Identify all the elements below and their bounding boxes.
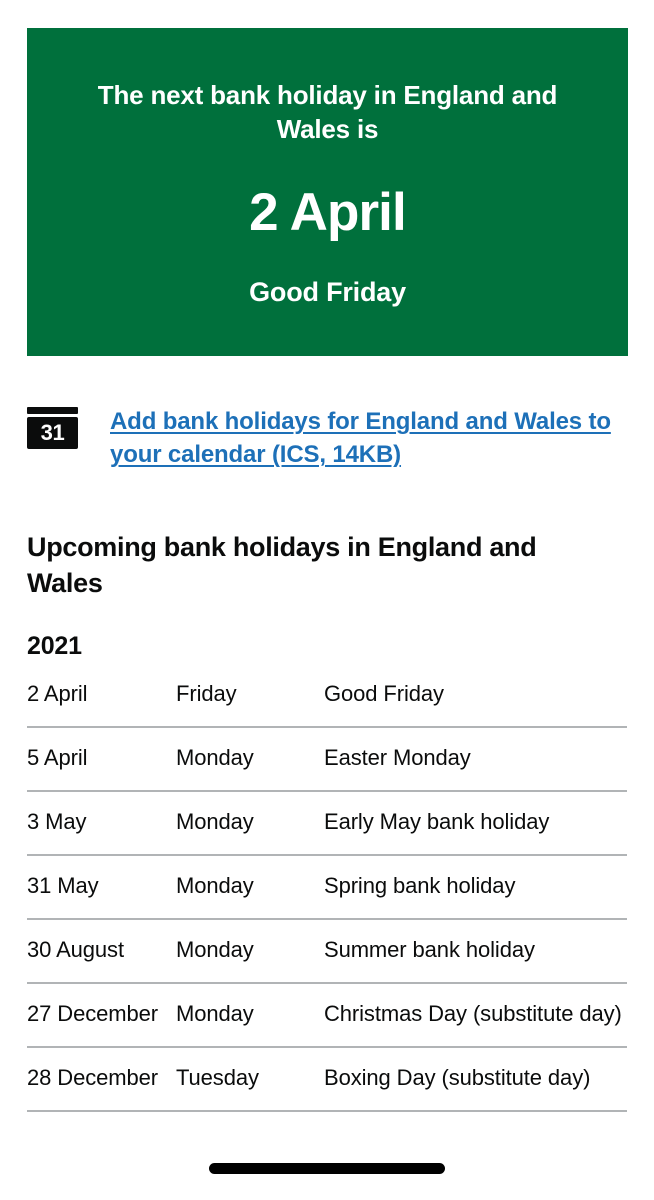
holiday-date: 27 December bbox=[27, 1000, 176, 1029]
holiday-day: Monday bbox=[176, 1000, 324, 1029]
holiday-name: Christmas Day (substitute day) bbox=[324, 1000, 627, 1029]
holiday-name: Easter Monday bbox=[324, 744, 627, 773]
upcoming-bank-holidays-table: 2 April Friday Good Friday 5 April Monda… bbox=[27, 664, 627, 1112]
holiday-date: 30 August bbox=[27, 936, 176, 965]
holiday-day: Tuesday bbox=[176, 1064, 324, 1093]
holiday-day: Monday bbox=[176, 936, 324, 965]
calendar-icon-day-number: 31 bbox=[27, 417, 78, 449]
page-title: Upcoming bank holidays in England and Wa… bbox=[27, 530, 607, 601]
holiday-date: 2 April bbox=[27, 680, 176, 709]
next-holiday-date: 2 April bbox=[249, 185, 406, 241]
holiday-day: Friday bbox=[176, 680, 324, 709]
calendar-download-row[interactable]: 31 Add bank holidays for England and Wal… bbox=[27, 405, 627, 471]
holiday-name: Spring bank holiday bbox=[324, 872, 627, 901]
table-row: 5 April Monday Easter Monday bbox=[27, 728, 627, 792]
holiday-day: Monday bbox=[176, 744, 324, 773]
year-heading: 2021 bbox=[27, 631, 82, 661]
table-row: 27 December Monday Christmas Day (substi… bbox=[27, 984, 627, 1048]
holiday-date: 31 May bbox=[27, 872, 176, 901]
calendar-icon-top-bar bbox=[27, 407, 78, 414]
home-indicator[interactable] bbox=[209, 1163, 445, 1174]
holiday-date: 3 May bbox=[27, 808, 176, 837]
table-row: 2 April Friday Good Friday bbox=[27, 664, 627, 728]
add-to-calendar-link[interactable]: Add bank holidays for England and Wales … bbox=[110, 405, 627, 471]
table-row: 28 December Tuesday Boxing Day (substitu… bbox=[27, 1048, 627, 1112]
holiday-date: 5 April bbox=[27, 744, 176, 773]
holiday-name: Early May bank holiday bbox=[324, 808, 627, 837]
calendar-icon: 31 bbox=[27, 407, 78, 449]
next-holiday-lead-text: The next bank holiday in England and Wal… bbox=[78, 78, 578, 147]
holiday-name: Good Friday bbox=[324, 680, 627, 709]
holiday-date: 28 December bbox=[27, 1064, 176, 1093]
holiday-name: Boxing Day (substitute day) bbox=[324, 1064, 627, 1093]
table-row: 31 May Monday Spring bank holiday bbox=[27, 856, 627, 920]
holiday-day: Monday bbox=[176, 808, 324, 837]
holiday-name: Summer bank holiday bbox=[324, 936, 627, 965]
table-row: 3 May Monday Early May bank holiday bbox=[27, 792, 627, 856]
table-row: 30 August Monday Summer bank holiday bbox=[27, 920, 627, 984]
next-holiday-banner: The next bank holiday in England and Wal… bbox=[27, 28, 628, 356]
next-holiday-name: Good Friday bbox=[249, 276, 406, 308]
holiday-day: Monday bbox=[176, 872, 324, 901]
